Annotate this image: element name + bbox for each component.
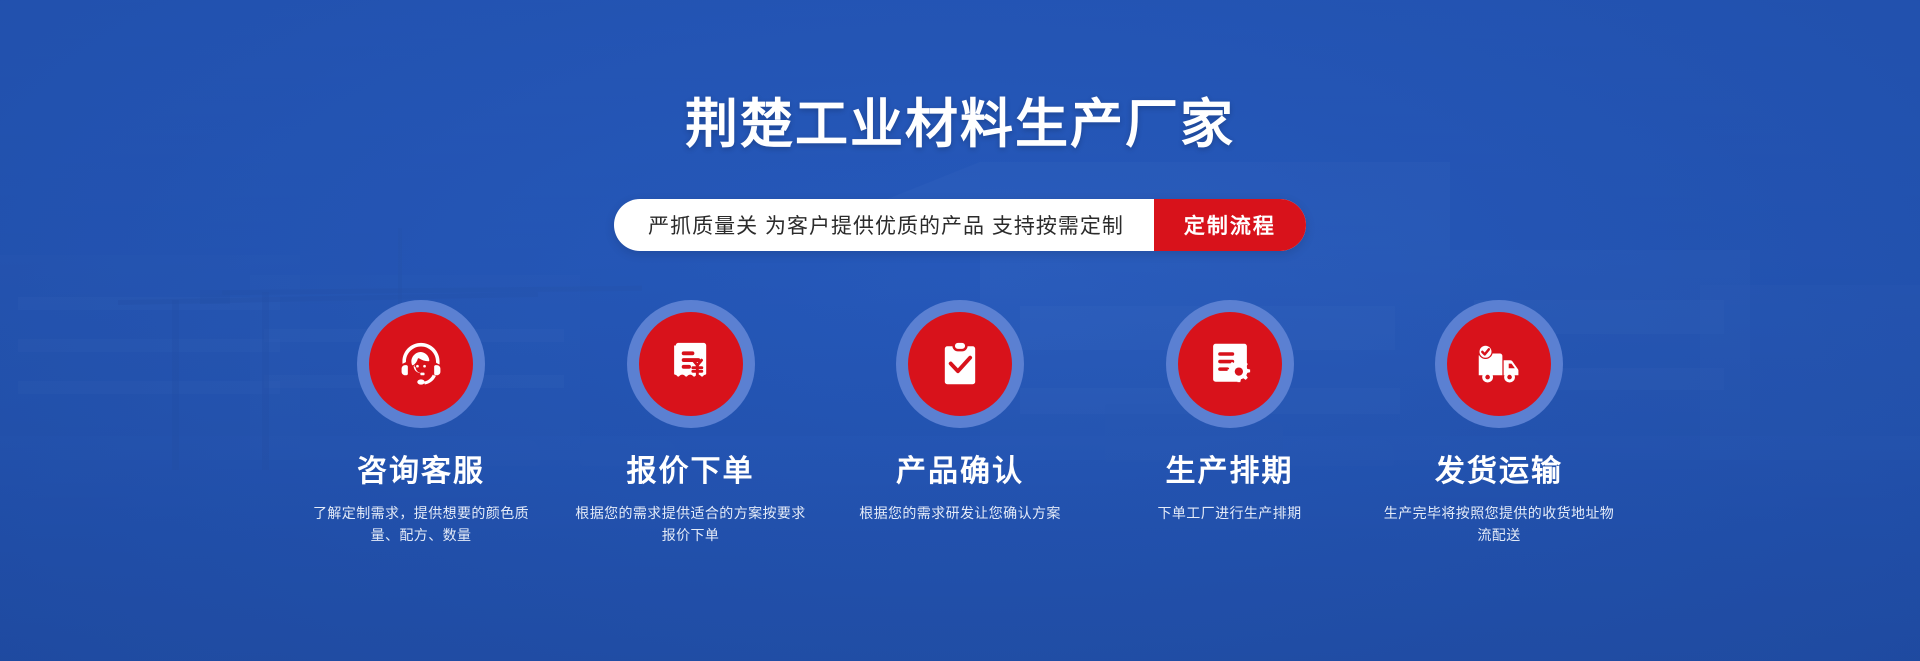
step-title: 产品确认 xyxy=(834,455,1086,488)
clipboard-check-icon xyxy=(933,337,987,391)
step-title: 生产排期 xyxy=(1104,455,1356,488)
delivery-truck-check-icon xyxy=(1472,337,1526,391)
step-item[interactable]: 产品确认 根据您的需求研发让您确认方案 xyxy=(834,300,1086,546)
page-title: 荆楚工业材料生产厂家 xyxy=(0,96,1920,154)
banner-content: 荆楚工业材料生产厂家 严抓质量关 为客户提供优质的产品 支持按需定制 定制流程 xyxy=(0,0,1920,661)
step-icon-ring[interactable] xyxy=(627,300,755,428)
step-description: 生产完毕将按照您提供的收货地址物流配送 xyxy=(1373,503,1625,546)
headset-support-icon xyxy=(394,337,448,391)
document-gear-icon xyxy=(1203,337,1257,391)
subtitle-bar-wrapper: 严抓质量关 为客户提供优质的产品 支持按需定制 定制流程 xyxy=(0,199,1920,251)
custom-process-button[interactable]: 定制流程 xyxy=(1154,199,1306,251)
step-description: 根据您的需求提供适合的方案按要求报价下单 xyxy=(565,503,817,546)
subtitle-bar: 严抓质量关 为客户提供优质的产品 支持按需定制 定制流程 xyxy=(614,199,1306,251)
step-title: 报价下单 xyxy=(565,455,817,488)
step-icon-disc xyxy=(639,312,743,416)
step-icon-disc xyxy=(369,312,473,416)
step-title: 咨询客服 xyxy=(295,455,547,488)
step-item[interactable]: 发货运输 生产完毕将按照您提供的收货地址物流配送 xyxy=(1373,300,1625,546)
subtitle-text: 严抓质量关 为客户提供优质的产品 支持按需定制 xyxy=(614,199,1154,251)
step-icon-ring[interactable] xyxy=(896,300,1024,428)
promo-banner: 荆楚工业材料生产厂家 严抓质量关 为客户提供优质的产品 支持按需定制 定制流程 xyxy=(0,0,1920,661)
step-icon-ring[interactable] xyxy=(1166,300,1294,428)
step-description: 了解定制需求，提供想要的颜色质量、配方、数量 xyxy=(295,503,547,546)
step-item[interactable]: 报价下单 根据您的需求提供适合的方案按要求报价下单 xyxy=(565,300,817,546)
step-icon-ring[interactable] xyxy=(357,300,485,428)
invoice-yuan-icon xyxy=(664,337,718,391)
step-item[interactable]: 生产排期 下单工厂进行生产排期 xyxy=(1104,300,1356,546)
process-steps: 咨询客服 了解定制需求，提供想要的颜色质量、配方、数量 xyxy=(295,300,1625,546)
step-item[interactable]: 咨询客服 了解定制需求，提供想要的颜色质量、配方、数量 xyxy=(295,300,547,546)
step-icon-disc xyxy=(1447,312,1551,416)
step-title: 发货运输 xyxy=(1373,455,1625,488)
step-icon-disc xyxy=(1178,312,1282,416)
step-icon-ring[interactable] xyxy=(1435,300,1563,428)
step-description: 根据您的需求研发让您确认方案 xyxy=(834,503,1086,525)
step-icon-disc xyxy=(908,312,1012,416)
step-description: 下单工厂进行生产排期 xyxy=(1104,503,1356,525)
